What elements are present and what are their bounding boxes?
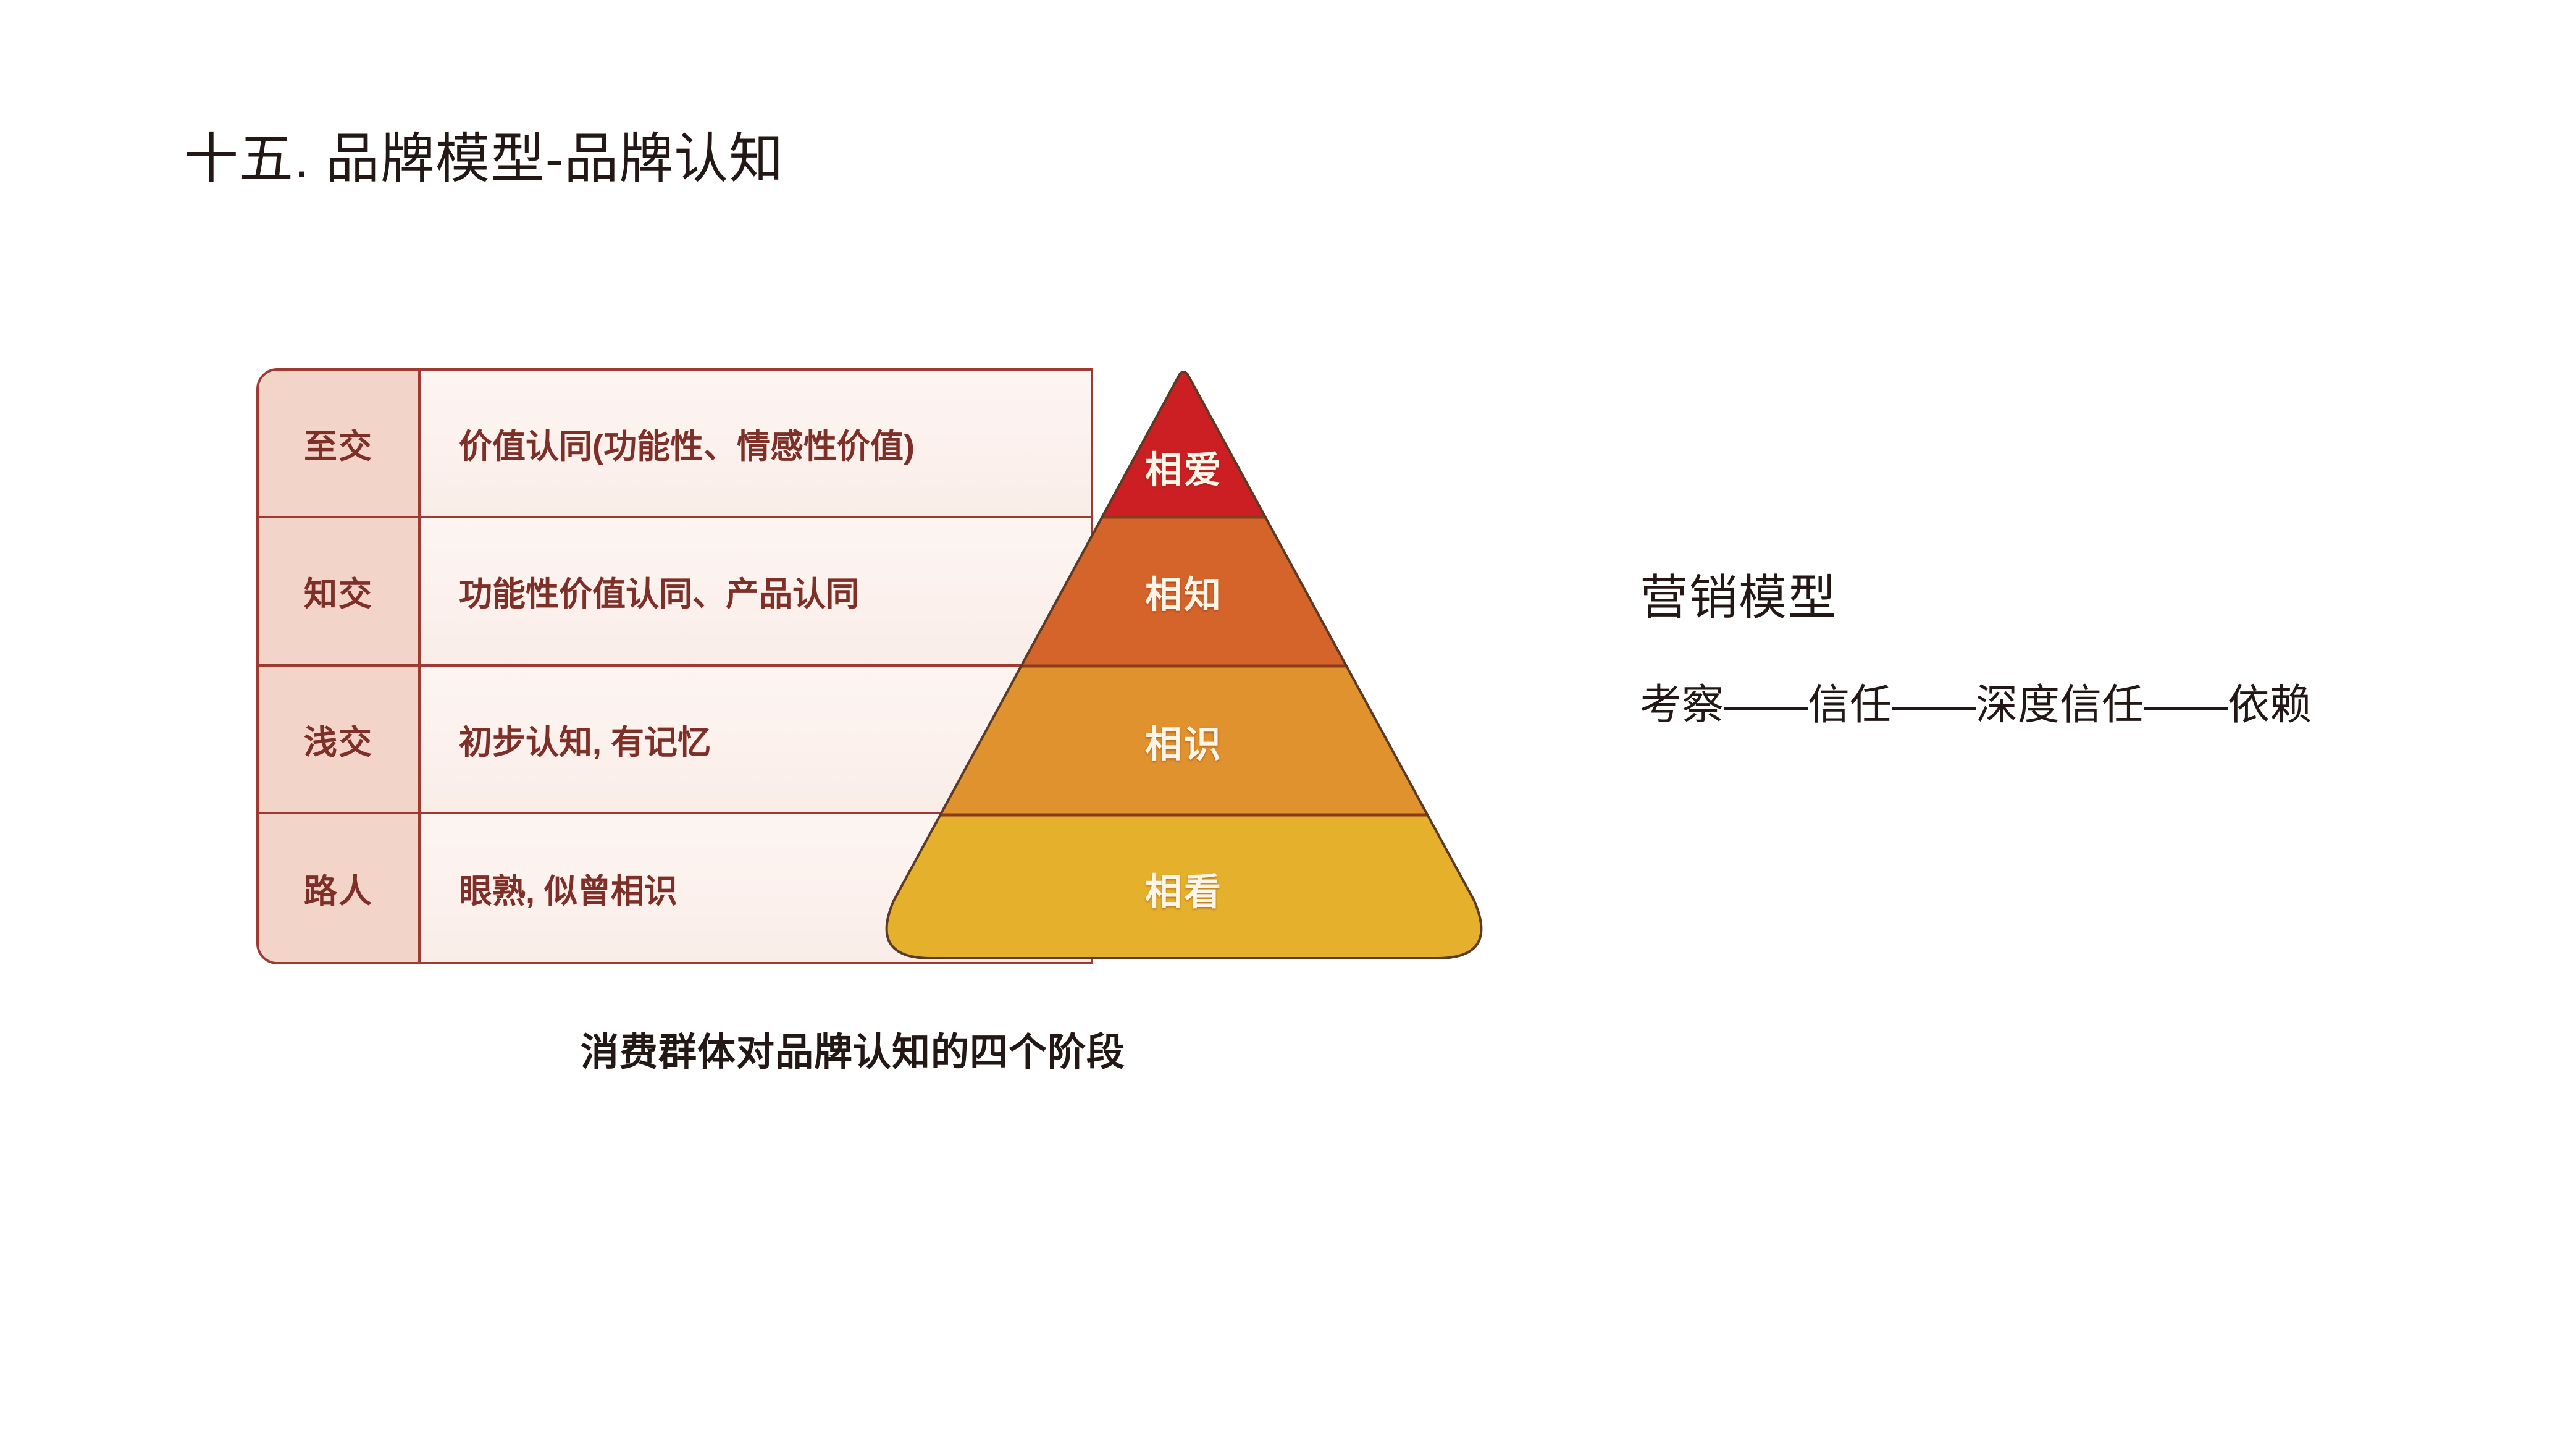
stage-cell: 至交 [259, 371, 421, 516]
pyramid-band-label: 相知 [1145, 565, 1223, 619]
marketing-model-panel: 营销模型 考察——信任——深度信任——依赖 [1640, 559, 2504, 731]
table-row: 至交 价值认同(功能性、情感性价值) [259, 371, 1091, 518]
brand-awareness-pyramid-diagram: 至交 价值认同(功能性、情感性价值) 知交 功能性价值认同、产品认同 浅交 初步… [256, 368, 1587, 964]
description-cell: 价值认同(功能性、情感性价值) [421, 371, 1091, 516]
marketing-model-heading: 营销模型 [1640, 559, 2504, 628]
pyramid-band-label: 相看 [1145, 862, 1223, 916]
stage-table: 至交 价值认同(功能性、情感性价值) 知交 功能性价值认同、产品认同 浅交 初步… [256, 368, 1093, 964]
stage-cell: 知交 [259, 518, 421, 664]
description-cell: 眼熟, 似曾相识 [421, 814, 1091, 962]
description-cell: 功能性价值认同、产品认同 [421, 518, 1091, 664]
pyramid-band-label: 相识 [1145, 715, 1223, 769]
stage-cell: 浅交 [259, 667, 421, 812]
table-row: 路人 眼熟, 似曾相识 [259, 814, 1091, 962]
description-cell: 初步认知, 有记忆 [421, 667, 1091, 812]
page-title: 十五. 品牌模型-品牌认知 [184, 115, 784, 193]
table-row: 知交 功能性价值认同、产品认同 [259, 518, 1091, 666]
marketing-model-flow: 考察——信任——深度信任——依赖 [1640, 670, 2504, 731]
diagram-caption: 消费群体对品牌认知的四个阶段 [581, 1021, 1125, 1076]
stage-cell: 路人 [259, 814, 421, 962]
pyramid-band-label: 相爱 [1145, 440, 1223, 494]
table-row: 浅交 初步认知, 有记忆 [259, 667, 1091, 814]
